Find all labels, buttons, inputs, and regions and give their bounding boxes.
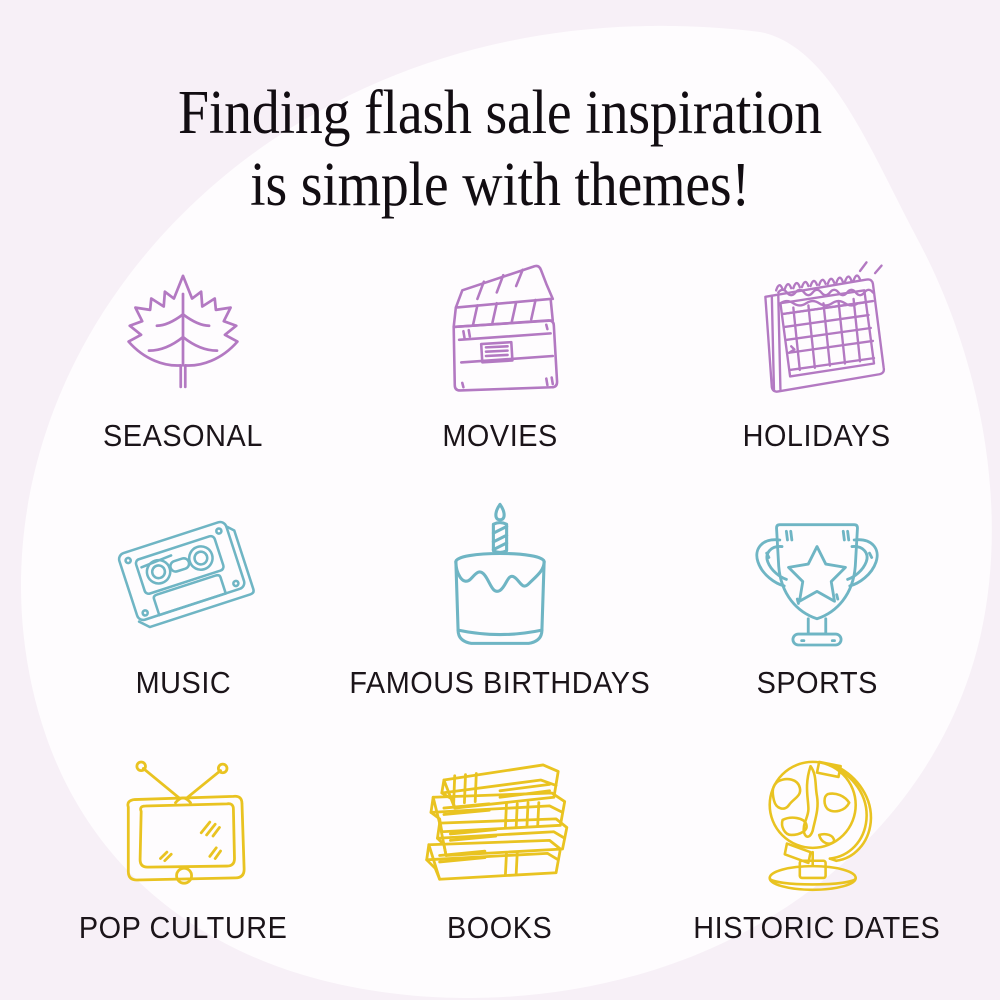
clapperboard-icon [430, 252, 570, 404]
theme-label: MOVIES [442, 418, 557, 454]
theme-label: SPORTS [756, 665, 877, 701]
theme-label: HOLIDAYS [743, 418, 891, 454]
theme-label: FAMOUS BIRTHDAYS [349, 665, 650, 701]
theme-item-books[interactable]: BOOKS [338, 746, 662, 993]
theme-label: HISTORIC DATES [693, 910, 940, 946]
theme-item-music[interactable]: MUSIC [28, 499, 338, 746]
theme-item-sports[interactable]: SPORTS [662, 499, 972, 746]
theme-grid: SEASONAL [28, 252, 972, 993]
book-stack-icon [422, 746, 578, 896]
maple-leaf-icon [115, 252, 251, 404]
theme-item-historic-dates[interactable]: HISTORIC DATES [662, 746, 972, 993]
headline-line-1: Finding flash sale inspiration [50, 78, 950, 150]
theme-item-seasonal[interactable]: SEASONAL [28, 252, 338, 499]
trophy-icon [747, 499, 887, 651]
poster-canvas: Finding flash sale inspiration is simple… [0, 0, 1000, 1000]
theme-item-movies[interactable]: MOVIES [338, 252, 662, 499]
theme-item-pop-culture[interactable]: POP CULTURE [28, 746, 338, 993]
theme-label: MUSIC [135, 665, 231, 701]
page-title: Finding flash sale inspiration is simple… [50, 78, 950, 222]
desk-globe-icon [750, 746, 884, 896]
calendar-icon [746, 252, 888, 404]
theme-label: BOOKS [447, 910, 552, 946]
theme-item-famous-birthdays[interactable]: FAMOUS BIRTHDAYS [338, 499, 662, 746]
cassette-tape-icon [112, 499, 254, 651]
theme-label: POP CULTURE [79, 910, 288, 946]
birthday-cake-icon [438, 499, 562, 651]
theme-label: SEASONAL [103, 418, 263, 454]
retro-tv-icon [109, 746, 257, 896]
theme-item-holidays[interactable]: HOLIDAYS [662, 252, 972, 499]
headline-line-2: is simple with themes! [50, 150, 950, 222]
